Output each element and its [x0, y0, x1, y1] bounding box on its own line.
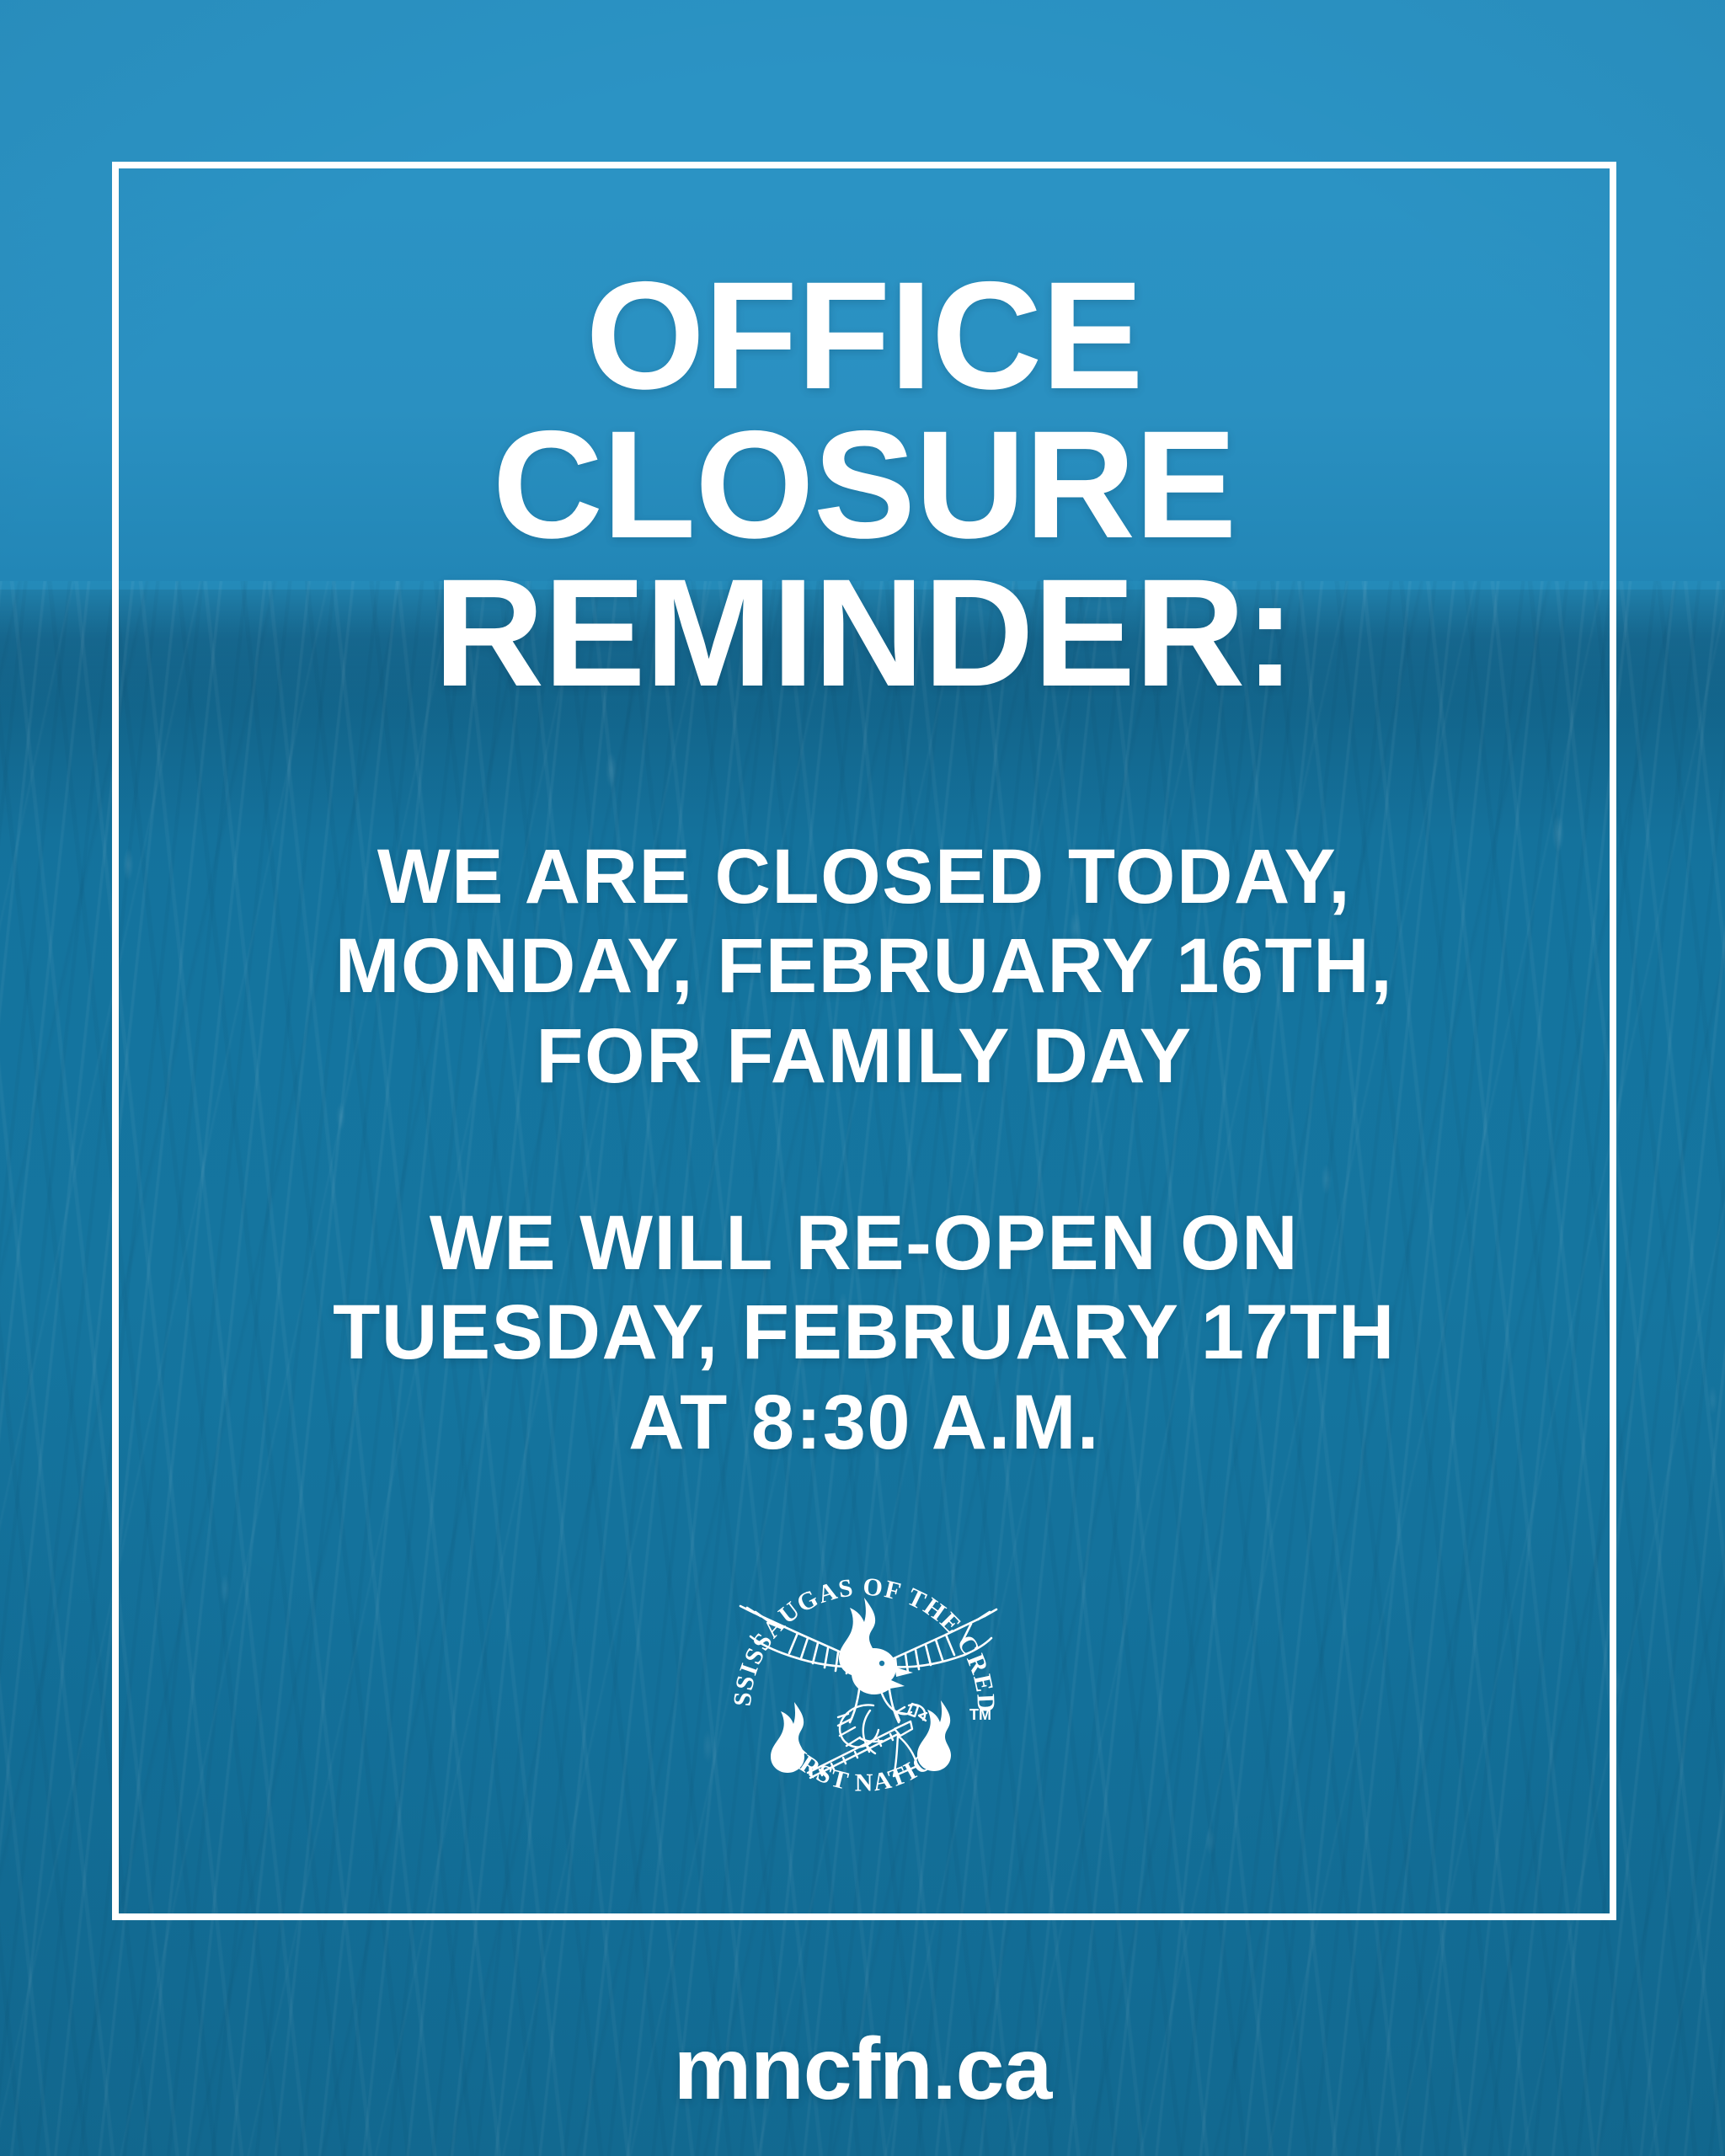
website-url[interactable]: mncfn.ca — [0, 2020, 1725, 2120]
eagle-talons-icon — [882, 1694, 927, 1721]
reopen-line-3: AT 8:30 A.M. — [182, 1378, 1546, 1468]
poster-canvas: OFFICE CLOSURE REMINDER: WE ARE CLOSED T… — [0, 0, 1725, 2156]
closure-line-1: WE ARE CLOSED TODAY, — [182, 832, 1546, 922]
flame-icon — [917, 1700, 951, 1771]
reopen-notice-paragraph: WE WILL RE-OPEN ON TUESDAY, FEBRUARY 17T… — [182, 1198, 1546, 1468]
trademark-icon: TM — [969, 1706, 991, 1723]
reopen-line-2: TUESDAY, FEBRUARY 17TH — [182, 1288, 1546, 1378]
headline-line-1: OFFICE — [207, 261, 1521, 410]
closure-notice-paragraph: WE ARE CLOSED TODAY, MONDAY, FEBRUARY 16… — [182, 832, 1546, 1102]
page-title: OFFICE CLOSURE REMINDER: — [207, 261, 1521, 707]
mncfn-logo: MISSISSAUGAS OF THE CREDIT FIRST NATION … — [717, 1549, 1012, 1844]
reopen-line-1: WE WILL RE-OPEN ON — [182, 1198, 1546, 1289]
headline-line-3: REMINDER: — [207, 558, 1521, 707]
closure-line-2: MONDAY, FEBRUARY 16TH, — [182, 921, 1546, 1011]
flame-icon — [771, 1702, 804, 1773]
headline-line-2: CLOSURE — [207, 410, 1521, 559]
eagle-head-icon — [852, 1648, 913, 1694]
poster-content: OFFICE CLOSURE REMINDER: WE ARE CLOSED T… — [112, 162, 1616, 1920]
closure-line-3: FOR FAMILY DAY — [182, 1011, 1546, 1102]
